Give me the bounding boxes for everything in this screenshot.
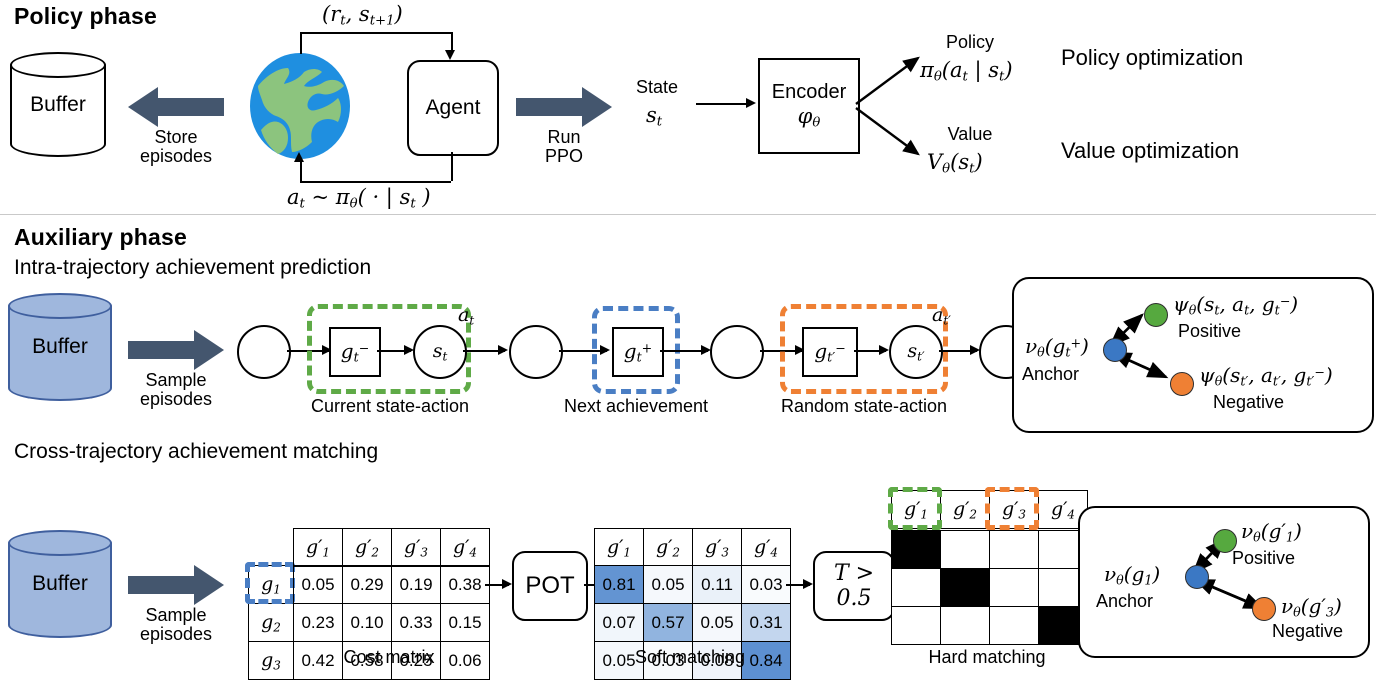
cost-matrix-cell: 0.05 — [294, 566, 343, 604]
g-minus-tprime-box: gt′− — [802, 327, 858, 377]
g-minus-t-label: gt− — [341, 339, 369, 365]
pot-label: POT — [525, 572, 574, 600]
value-head-math: Vθ(st) — [927, 150, 983, 177]
cost-matrix-cell: 0.29 — [343, 566, 392, 604]
policy-head-label: Policy — [930, 33, 1010, 52]
policy-buffer-label: Buffer — [10, 93, 106, 117]
cross-negative-dot — [1252, 597, 1276, 621]
feedback-top-vline-left — [300, 32, 302, 54]
hard-matching-cell — [892, 569, 941, 607]
soft-matching-cell: 0.31 — [742, 604, 791, 642]
action-vline-right — [451, 152, 453, 181]
encoder-label: Encoder — [772, 81, 847, 104]
encoder-math: φθ — [798, 104, 821, 131]
col-header-g4p: g′4 — [453, 536, 477, 558]
col-header-g4p: g′4 — [1051, 498, 1075, 520]
chain-node-circle-1 — [237, 325, 291, 379]
row-header-g3: g3 — [261, 649, 281, 671]
cross-buffer-cylinder: Buffer — [8, 530, 112, 638]
chain-node-circle-2 — [509, 325, 563, 379]
hard-matching-cell — [990, 531, 1039, 569]
cross-positive-label: Positive — [1232, 549, 1322, 568]
col-header-g1p: g′1 — [607, 536, 631, 558]
negative-g3p-highlight — [985, 487, 1039, 530]
hard-matching-cell — [941, 607, 990, 645]
cost-matrix-cell: 0.38 — [441, 566, 490, 604]
s-t-circle: st — [413, 325, 467, 379]
cost-matrix-cell: 0.23 — [294, 604, 343, 642]
soft-matching-col-headers: g′1 g′2 g′3 g′4 — [594, 528, 791, 567]
matrix-row — [892, 531, 1088, 569]
cross-anchor-math: νθ(g1) — [1104, 562, 1160, 588]
col-header-g2p: g′2 — [953, 498, 977, 520]
soft-matching-cell: 0.05 — [693, 604, 742, 642]
store-episodes-label: Storeepisodes — [128, 128, 224, 167]
state-label: State — [625, 78, 689, 97]
intra-positive-dot — [1144, 303, 1168, 327]
col-header-g3p: g′3 — [705, 536, 729, 558]
agent-label: Agent — [426, 96, 481, 120]
action-vline-left — [300, 160, 302, 181]
reward-next-state-label: (rt, st+1) — [322, 2, 403, 29]
col-header-g4p: g′4 — [754, 536, 778, 558]
cross-positive-math: νθ(g′1) — [1241, 519, 1302, 545]
hard-matching-caption: Hard matching — [891, 648, 1083, 667]
soft-matching-cell: 0.11 — [693, 566, 742, 604]
g-minus-tprime-label: gt′− — [814, 339, 845, 365]
matrix-row — [892, 607, 1088, 645]
intra-positive-label: Positive — [1178, 322, 1288, 341]
intra-sample-episodes-label: Sampleepisodes — [122, 371, 230, 410]
cost-matrix-cell: 0.10 — [343, 604, 392, 642]
intra-positive-math: ψθ(st, at, gt−) — [1173, 292, 1298, 318]
matrix-row: 0.050.290.190.38 — [294, 566, 490, 604]
cylinder-top — [8, 530, 112, 556]
a-tprime-edge-label: at′ — [932, 304, 951, 327]
next-achievement-caption: Next achievement — [551, 397, 721, 416]
state-math: st — [646, 103, 662, 130]
matrix-row — [892, 569, 1088, 607]
policy-head-math: πθ(at | st) — [920, 58, 1013, 85]
col-header-g1p: g′1 — [306, 536, 330, 558]
run-ppo-arrow — [516, 87, 612, 127]
hard-matching-cell — [990, 607, 1039, 645]
g-plus-t-label: gt+ — [624, 339, 652, 365]
soft-matching-cell: 0.03 — [742, 566, 791, 604]
encoder-box: Encoder φθ — [758, 58, 860, 154]
cost-matrix-row-headers: g1 g2 g3 — [248, 528, 294, 680]
cost-matrix-cell: 0.15 — [441, 604, 490, 642]
s-t-label: st — [433, 340, 448, 363]
feedback-top-arrowhead — [445, 50, 455, 60]
soft-to-threshold-arrowhead — [803, 579, 813, 589]
cylinder-top — [10, 52, 106, 78]
positive-g1p-highlight — [888, 487, 942, 530]
phase-divider — [0, 214, 1376, 215]
chain-arrowhead-3 — [498, 345, 508, 355]
agent-box: Agent — [407, 60, 499, 156]
a-t-edge-label: at — [458, 304, 474, 327]
intra-anchor-label: Anchor — [1022, 365, 1102, 384]
hard-matching-cell — [941, 569, 990, 607]
run-ppo-label: RunPPO — [516, 128, 612, 167]
policy-optimization-label: Policy optimization — [1061, 45, 1243, 71]
hard-matching-matrix — [891, 530, 1088, 645]
hard-matching-cell — [892, 531, 941, 569]
pot-box: POT — [512, 551, 588, 621]
soft-matching-cell: 0.05 — [644, 566, 693, 604]
row-header-g2: g2 — [261, 611, 281, 633]
cross-trajectory-subtitle: Cross-trajectory achievement matching — [14, 440, 378, 464]
cross-sample-episodes-label: Sampleepisodes — [122, 606, 230, 645]
soft-matching-cell: 0.81 — [595, 566, 644, 604]
action-sampling-label: at ~ πθ( · | st ) — [287, 185, 431, 212]
intra-sample-episodes-arrow — [128, 330, 224, 370]
current-state-action-caption: Current state-action — [305, 397, 475, 416]
soft-matching-cell: 0.57 — [644, 604, 693, 642]
soft-matching-cell: 0.07 — [595, 604, 644, 642]
threshold-label: T > 0.5 — [815, 561, 893, 611]
cross-anchor-label: Anchor — [1096, 592, 1176, 611]
cylinder-top — [8, 293, 112, 319]
intra-negative-dot — [1170, 372, 1194, 396]
store-episodes-arrow — [128, 87, 224, 127]
matrix-row: 0.230.100.330.15 — [294, 604, 490, 642]
cost-matrix-cell: 0.33 — [392, 604, 441, 642]
action-hline — [300, 181, 451, 183]
globe-icon — [248, 52, 352, 160]
cost-matrix-caption: Cost matrix — [293, 648, 485, 667]
anchor-g1-highlight — [245, 562, 295, 604]
matrix-row: 0.070.570.050.31 — [595, 604, 791, 642]
chain-node-circle-3 — [710, 325, 764, 379]
threshold-box: T > 0.5 — [813, 551, 895, 621]
intra-anchor-math: νθ(gt+) — [1025, 334, 1089, 360]
intra-buffer-cylinder: Buffer — [8, 293, 112, 401]
intra-negative-math: ψθ(st′, at′, gt′−) — [1199, 363, 1333, 389]
auxiliary-phase-title: Auxiliary phase — [14, 224, 187, 251]
cross-negative-math: νθ(g′3) — [1281, 594, 1342, 620]
action-arrowhead — [294, 152, 304, 162]
feedback-top-vline-right — [451, 32, 453, 52]
cross-negative-label: Negative — [1272, 622, 1362, 641]
intra-anchor-dot — [1103, 338, 1127, 362]
s-tprime-circle: st′ — [889, 325, 943, 379]
col-header-g2p: g′2 — [656, 536, 680, 558]
feedback-top-hline — [300, 32, 451, 34]
g-minus-t-box: gt− — [329, 327, 381, 377]
matrix-row: 0.810.050.110.03 — [595, 566, 791, 604]
hard-matching-cell — [990, 569, 1039, 607]
cross-buffer-label: Buffer — [8, 572, 112, 596]
state-to-encoder-arrowhead — [746, 98, 756, 108]
intra-negative-label: Negative — [1213, 393, 1323, 412]
soft-matching-caption: Soft matching — [594, 648, 786, 667]
col-header-g3p: g′3 — [404, 536, 428, 558]
cross-anchor-dot — [1185, 565, 1209, 589]
cost-to-pot-arrowhead — [502, 579, 512, 589]
g-plus-t-box: gt+ — [612, 327, 664, 377]
s-tprime-label: st′ — [907, 340, 924, 363]
value-optimization-label: Value optimization — [1061, 138, 1239, 164]
hard-matching-cell — [892, 607, 941, 645]
state-to-encoder-line — [696, 103, 748, 105]
cost-matrix-cell: 0.19 — [392, 566, 441, 604]
random-state-action-caption: Random state-action — [779, 397, 949, 416]
hard-matching-cell — [941, 531, 990, 569]
col-header-g2p: g′2 — [355, 536, 379, 558]
cross-sample-episodes-arrow — [128, 565, 224, 605]
cost-matrix-col-headers: g′1 g′2 g′3 g′4 — [293, 528, 490, 567]
value-head-label: Value — [932, 125, 1008, 144]
intra-trajectory-subtitle: Intra-trajectory achievement prediction — [14, 256, 371, 280]
policy-buffer-cylinder: Buffer — [10, 52, 106, 157]
chain-arrowhead-7 — [879, 345, 889, 355]
intra-buffer-label: Buffer — [8, 335, 112, 359]
policy-phase-title: Policy phase — [14, 3, 157, 30]
